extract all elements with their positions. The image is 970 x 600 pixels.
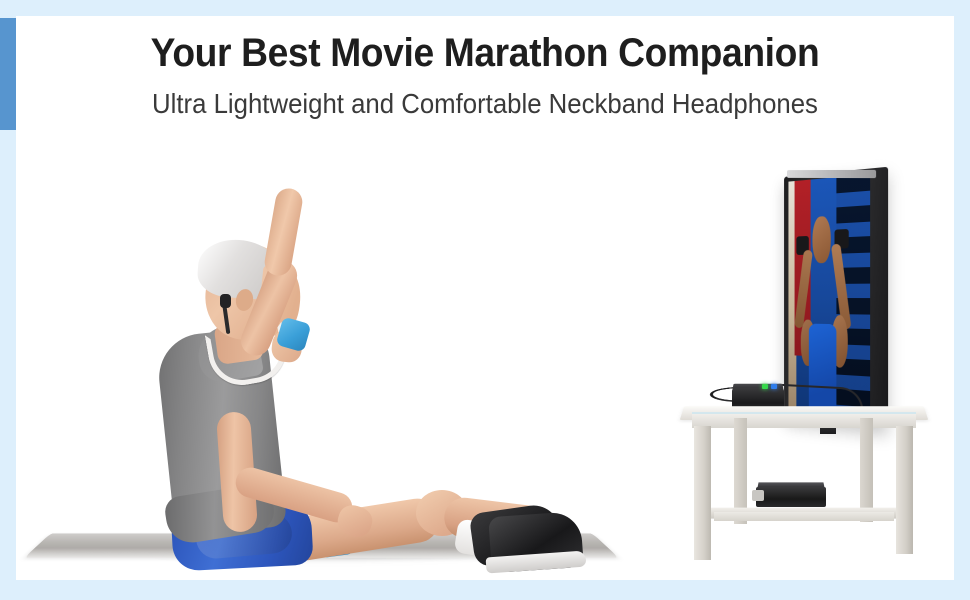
table-leg-front-left (694, 426, 711, 560)
media-player (756, 487, 826, 507)
media-player-tab (752, 490, 764, 501)
scene-tv-setup (670, 160, 950, 580)
table-leg-back-right (860, 418, 873, 522)
page-title: Your Best Movie Marathon Companion (34, 31, 936, 76)
scene-man-exercising (20, 150, 620, 580)
arm-raised-forearm (263, 186, 305, 277)
table-leg-front-right (896, 426, 913, 554)
table-shelf-edge (714, 512, 894, 521)
earbud (220, 294, 231, 308)
tv-bezel (787, 170, 876, 178)
led-blue-indicator (771, 384, 777, 389)
accent-bar (0, 18, 16, 130)
tv-screen (788, 174, 870, 418)
promo-banner: Your Best Movie Marathon Companion Ultra… (0, 0, 970, 600)
tv-person-head (813, 216, 831, 264)
table-top-edge (692, 414, 916, 428)
page-subtitle: Ultra Lightweight and Comfortable Neckba… (39, 88, 931, 120)
led-green-indicator (762, 384, 768, 389)
